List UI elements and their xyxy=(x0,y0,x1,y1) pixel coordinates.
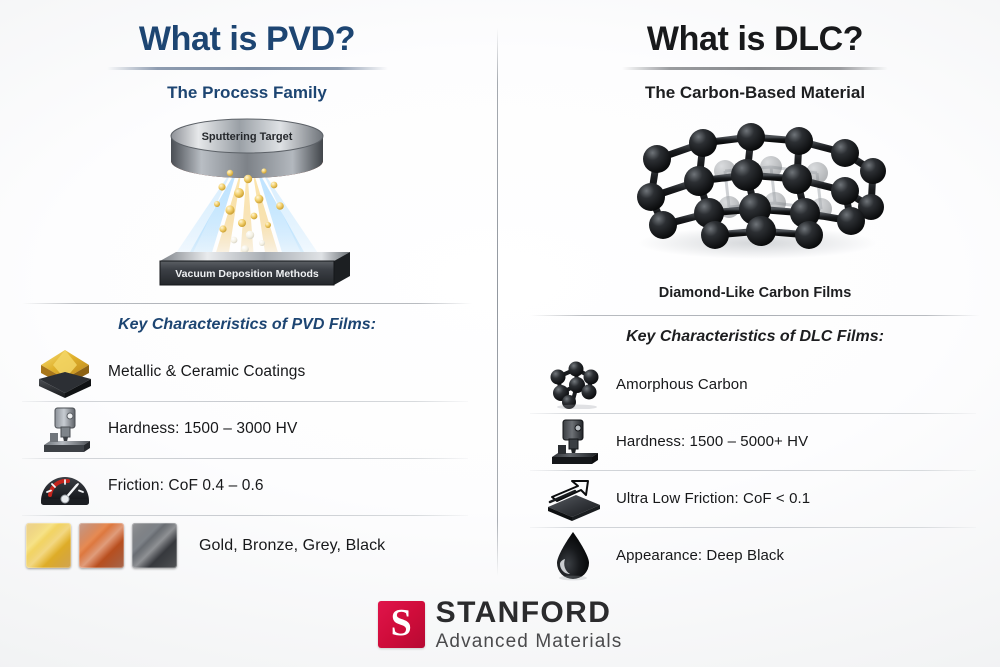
dlc-section-heading: Key Characteristics of DLC Films: xyxy=(520,328,990,346)
pvd-column: What is PVD? The Process Family xyxy=(12,0,482,667)
sputtering-target: Sputtering Target xyxy=(171,119,323,178)
brand-name-primary: STANFORD xyxy=(436,598,623,628)
swatch-bronze xyxy=(79,523,124,568)
dlc-feature-list: Amorphous Carbon xyxy=(520,356,990,584)
substrate-slab: Vacuum Deposition Methods xyxy=(160,252,350,285)
swatch-gold xyxy=(26,523,71,568)
brand-wordmark: STANFORD Advanced Materials xyxy=(436,598,623,651)
friction-gauge-icon xyxy=(22,465,108,507)
logo-letter: S xyxy=(391,604,412,642)
swatch-grey xyxy=(132,523,177,568)
carbon-molecule-icon xyxy=(530,359,616,409)
list-item-label: Amorphous Carbon xyxy=(616,376,748,393)
list-item-label: Ultra Low Friction: CoF < 0.1 xyxy=(616,490,810,507)
pvd-section-heading: Key Characteristics of PVD Films: xyxy=(12,316,482,334)
hardness-tester-icon xyxy=(530,415,616,467)
dlc-section-rule xyxy=(530,315,980,316)
list-item-label: Hardness: 1500 – 5000+ HV xyxy=(616,433,808,450)
infographic-canvas: What is PVD? The Process Family xyxy=(0,0,1000,667)
list-item: Friction: CoF 0.4 – 0.6 xyxy=(22,458,472,515)
pvd-feature-list: Metallic & Ceramic Coatings xyxy=(12,344,482,577)
stanford-logo-mark: S xyxy=(378,601,425,648)
sputtering-target-label: Sputtering Target xyxy=(202,131,293,143)
low-friction-icon xyxy=(530,475,616,521)
list-item-label: Friction: CoF 0.4 – 0.6 xyxy=(108,477,264,495)
column-divider xyxy=(497,28,498,576)
brand-name-secondary: Advanced Materials xyxy=(436,632,623,651)
pvd-title: What is PVD? xyxy=(12,22,482,58)
pvd-section-rule xyxy=(22,303,472,304)
list-item: Amorphous Carbon xyxy=(530,356,980,413)
list-item: Appearance: Deep Black xyxy=(530,527,980,584)
pvd-hero-illustration: Sputtering Target xyxy=(12,109,482,289)
dlc-column: What is DLC? The Carbon-Based Material xyxy=(520,0,990,667)
list-item-label: Gold, Bronze, Grey, Black xyxy=(177,537,385,555)
list-item-label: Hardness: 1500 – 3000 HV xyxy=(108,420,297,438)
sputtering-diagram: Sputtering Target xyxy=(122,109,372,289)
list-item-label: Metallic & Ceramic Coatings xyxy=(108,363,305,381)
carbon-lattice-diagram xyxy=(605,109,905,269)
pvd-title-rule xyxy=(107,67,388,70)
dlc-title-rule xyxy=(622,67,888,70)
gold-coating-icon xyxy=(22,346,108,398)
hardness-tester-icon xyxy=(22,403,108,455)
list-item: Gold, Bronze, Grey, Black xyxy=(22,515,472,577)
black-droplet-icon xyxy=(530,529,616,581)
list-item: Hardness: 1500 – 5000+ HV xyxy=(530,413,980,470)
list-item: Ultra Low Friction: CoF < 0.1 xyxy=(530,470,980,527)
dlc-hero-illustration xyxy=(520,109,990,289)
brand-logo[interactable]: S STANFORD Advanced Materials xyxy=(0,598,1000,651)
dlc-title: What is DLC? xyxy=(520,22,990,58)
list-item: Metallic & Ceramic Coatings xyxy=(22,344,472,401)
color-swatches-icon xyxy=(22,523,177,568)
dlc-subtitle: The Carbon-Based Material xyxy=(520,83,990,103)
list-item-label: Appearance: Deep Black xyxy=(616,547,784,564)
list-item: Hardness: 1500 – 3000 HV xyxy=(22,401,472,458)
substrate-label: Vacuum Deposition Methods xyxy=(175,268,319,280)
pvd-subtitle: The Process Family xyxy=(12,83,482,103)
